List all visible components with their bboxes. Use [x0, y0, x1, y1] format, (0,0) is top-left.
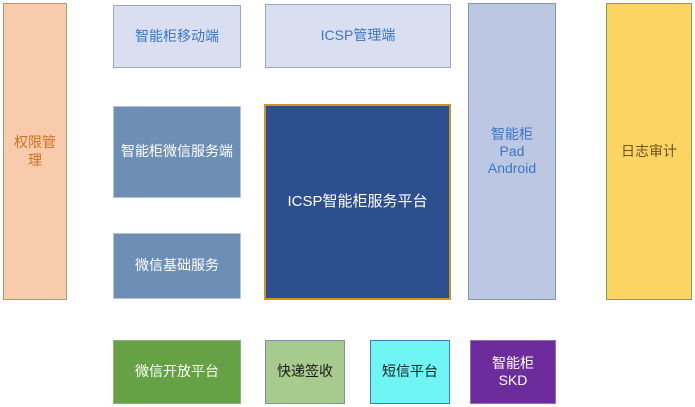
- node-cabinet-skd-label: 智能柜 SKD: [492, 355, 534, 389]
- node-cabinet-pad-android-label: 智能柜 Pad Android: [488, 126, 536, 177]
- node-cabinet-wechat-service[interactable]: 智能柜微信服务端: [113, 106, 241, 198]
- node-express-sign[interactable]: 快递签收: [265, 340, 345, 404]
- node-icsp-admin-console[interactable]: ICSP管理端: [265, 4, 451, 68]
- node-log-audit-label: 日志审计: [621, 143, 677, 160]
- architecture-diagram-canvas: 权限管理 智能柜移动端 ICSP管理端 智能柜微信服务端 微信基础服务 ICSP…: [0, 0, 695, 407]
- node-cabinet-pad-android[interactable]: 智能柜 Pad Android: [468, 3, 556, 300]
- node-cabinet-wechat-service-label: 智能柜微信服务端: [121, 143, 233, 160]
- node-cabinet-mobile-client[interactable]: 智能柜移动端: [113, 5, 241, 68]
- node-wechat-base-service-label: 微信基础服务: [135, 257, 219, 274]
- node-log-audit[interactable]: 日志审计: [606, 3, 692, 300]
- node-wechat-open-platform[interactable]: 微信开放平台: [113, 340, 241, 404]
- node-cabinet-skd[interactable]: 智能柜 SKD: [470, 340, 556, 404]
- node-icsp-cabinet-service-platform[interactable]: ICSP智能柜服务平台: [264, 104, 451, 300]
- node-permission-management-label: 权限管理: [10, 134, 60, 168]
- node-permission-management[interactable]: 权限管理: [3, 3, 67, 300]
- node-icsp-admin-console-label: ICSP管理端: [321, 27, 396, 44]
- node-express-sign-label: 快递签收: [277, 363, 333, 380]
- node-wechat-open-platform-label: 微信开放平台: [135, 363, 219, 380]
- node-sms-platform-label: 短信平台: [382, 363, 438, 380]
- node-cabinet-mobile-client-label: 智能柜移动端: [135, 28, 219, 45]
- node-sms-platform[interactable]: 短信平台: [370, 340, 450, 404]
- node-wechat-base-service[interactable]: 微信基础服务: [113, 233, 241, 299]
- node-icsp-cabinet-service-platform-label: ICSP智能柜服务平台: [287, 193, 427, 211]
